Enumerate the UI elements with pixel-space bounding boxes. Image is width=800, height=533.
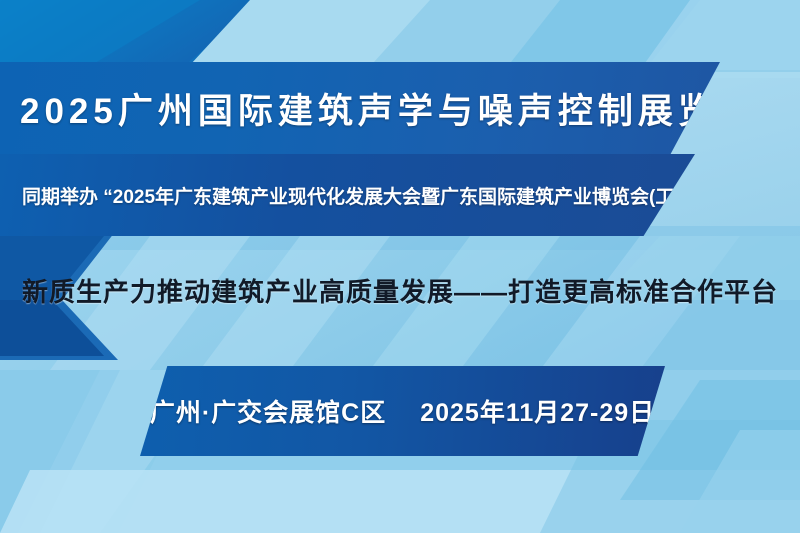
subtitle-text: 同期举办 “2025年广东建筑产业现代化发展大会暨广东国际建筑产业博览会(工程交… [22, 182, 766, 209]
venue-date-line: 广州·广交会展馆C区 2025年11月27-29日 [150, 393, 655, 429]
exhibition-banner: 2025广州国际建筑声学与噪声控制展览会 同期举办 “2025年广东建筑产业现代… [0, 0, 800, 533]
venue-text: 广州·广交会展馆C区 [150, 393, 386, 429]
dates-text: 2025年11月27-29日 [420, 393, 655, 429]
subtitle-band: 同期举办 “2025年广东建筑产业现代化发展大会暨广东国际建筑产业博览会(工程交… [0, 154, 695, 236]
venue-band: 广州·广交会展馆C区 2025年11月27-29日 [140, 366, 665, 456]
title-band: 2025广州国际建筑声学与噪声控制展览会 [0, 62, 720, 154]
theme-slogan: 新质生产力推动建筑产业高质量发展——打造更高标准合作平台 [0, 272, 800, 309]
page-title: 2025广州国际建筑声学与噪声控制展览会 [20, 83, 758, 134]
